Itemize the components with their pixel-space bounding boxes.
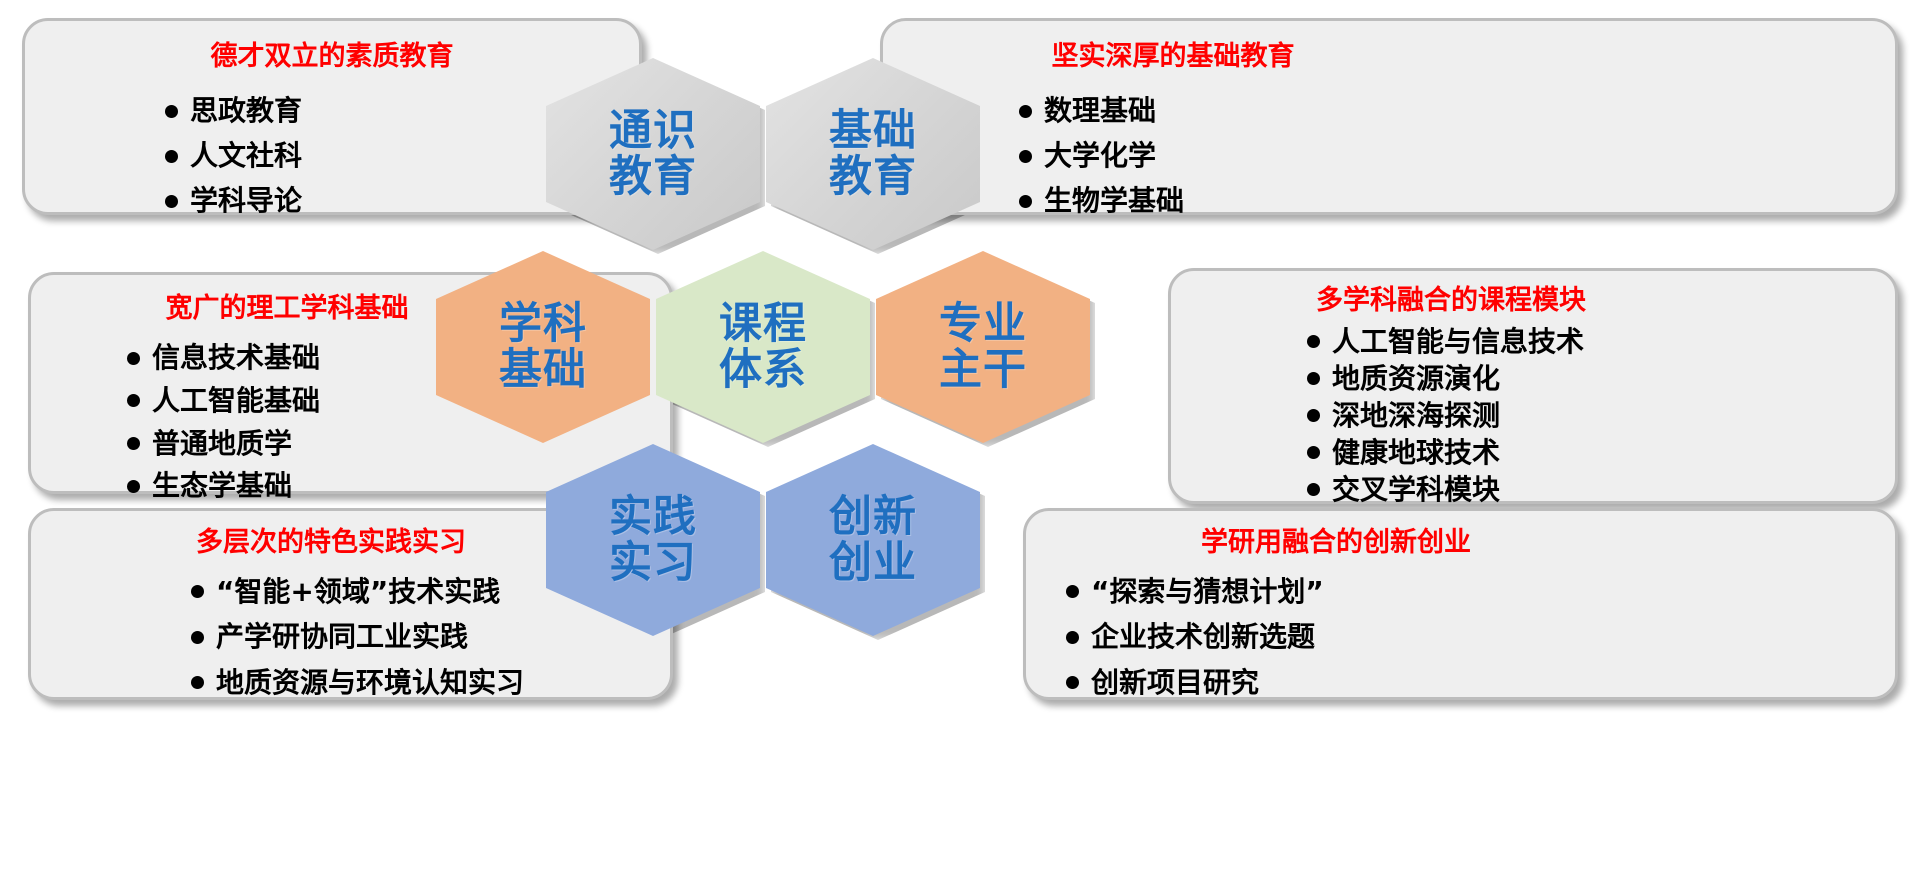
- panel-bottom-left-list: “智能+领域”技术实践 产学研协同工业实践 地质资源与环境认知实习: [191, 569, 524, 705]
- list-item: 普通地质学: [127, 422, 320, 465]
- hex-innovation-entrepreneurship-line1: 创新: [829, 494, 917, 540]
- bullet-icon: [1066, 676, 1079, 689]
- list-item: 生物学基础: [1019, 179, 1184, 223]
- panel-mid-right-list: 人工智能与信息技术 地质资源演化 深地深海探测 健康地球技术 交叉学科模块: [1307, 323, 1584, 508]
- bullet-icon: [191, 631, 204, 644]
- bullet-icon: [1307, 446, 1320, 459]
- list-item-label: 健康地球技术: [1332, 439, 1500, 467]
- hex-basic-education-line2: 教育: [829, 154, 917, 200]
- list-item-label: 人工智能与信息技术: [1332, 328, 1584, 356]
- list-item: 产学研协同工业实践: [191, 614, 524, 660]
- list-item-label: 普通地质学: [152, 430, 292, 458]
- list-item-label: 大学化学: [1044, 142, 1156, 170]
- bullet-icon: [127, 437, 140, 450]
- bullet-icon: [1066, 585, 1079, 598]
- list-item-label: 创新项目研究: [1091, 669, 1259, 697]
- list-item: 深地深海探测: [1307, 397, 1584, 434]
- bullet-icon: [127, 480, 140, 493]
- list-item-label: 产学研协同工业实践: [216, 623, 468, 651]
- list-item-label: 思政教育: [190, 97, 302, 125]
- bullet-icon: [127, 352, 140, 365]
- list-item-label: 地质资源与环境认知实习: [216, 669, 524, 697]
- list-item-label: 信息技术基础: [152, 344, 320, 372]
- list-item: 生态学基础: [127, 465, 320, 507]
- hex-innovation-entrepreneurship-line2: 创业: [829, 540, 917, 586]
- hex-professional-core-line1: 专业: [939, 301, 1027, 347]
- panel-mid-right: 多学科融合的课程模块 人工智能与信息技术 地质资源演化 深地深海探测 健康地球技…: [1168, 268, 1898, 504]
- list-item: 企业技术创新选题: [1066, 614, 1324, 660]
- bullet-icon: [1307, 335, 1320, 348]
- list-item: “智能+领域”技术实践: [191, 569, 524, 614]
- list-item-label: 数理基础: [1044, 97, 1156, 125]
- list-item: 思政教育: [165, 89, 302, 133]
- list-item-label: 人文社科: [190, 142, 302, 170]
- panel-top-left-list: 思政教育 人文社科 学科导论: [165, 89, 302, 223]
- panel-bottom-left-title: 多层次的特色实践实习: [31, 529, 631, 556]
- panel-mid-left-list: 信息技术基础 人工智能基础 普通地质学 生态学基础: [127, 337, 320, 507]
- list-item-label: 生物学基础: [1044, 187, 1184, 215]
- list-item-label: “智能+领域”技术实践: [216, 578, 500, 606]
- list-item: 地质资源演化: [1307, 360, 1584, 397]
- panel-top-right-list: 数理基础 大学化学 生物学基础: [1019, 89, 1184, 223]
- hex-practice-internship-line2: 实习: [609, 540, 697, 586]
- bullet-icon: [127, 394, 140, 407]
- diagram-canvas: 德才双立的素质教育 思政教育 人文社科 学科导论 坚实深厚的基础教育 数理基础 …: [0, 0, 1920, 873]
- panel-top-right-title: 坚实深厚的基础教育: [883, 43, 1463, 70]
- hex-practice-internship-line1: 实践: [609, 494, 697, 540]
- bullet-icon: [1307, 483, 1320, 496]
- bullet-icon: [1019, 105, 1032, 118]
- list-item: 信息技术基础: [127, 337, 320, 379]
- hex-discipline-foundation-line1: 学科: [499, 301, 587, 347]
- bullet-icon: [1307, 409, 1320, 422]
- bullet-icon: [1307, 372, 1320, 385]
- list-item: 人工智能基础: [127, 379, 320, 422]
- list-item: 人文社科: [165, 133, 302, 179]
- list-item: 人工智能与信息技术: [1307, 323, 1584, 360]
- hex-discipline-foundation-line2: 基础: [499, 347, 587, 393]
- list-item: 交叉学科模块: [1307, 471, 1584, 508]
- hex-general-education-line1: 通识: [609, 108, 697, 154]
- hex-curriculum-system-line1: 课程: [719, 301, 807, 347]
- panel-top-right: 坚实深厚的基础教育 数理基础 大学化学 生物学基础: [880, 18, 1898, 215]
- list-item: 健康地球技术: [1307, 434, 1584, 471]
- panel-mid-right-title: 多学科融合的课程模块: [1171, 287, 1731, 314]
- list-item: 数理基础: [1019, 89, 1184, 133]
- list-item: 学科导论: [165, 179, 302, 223]
- list-item-label: “探索与猜想计划”: [1091, 578, 1324, 606]
- hex-general-education-line2: 教育: [609, 154, 697, 200]
- list-item: “探索与猜想计划”: [1066, 569, 1324, 614]
- bullet-icon: [165, 105, 178, 118]
- list-item-label: 企业技术创新选题: [1091, 623, 1315, 651]
- list-item: 大学化学: [1019, 133, 1184, 179]
- bullet-icon: [191, 676, 204, 689]
- bullet-icon: [191, 585, 204, 598]
- list-item-label: 人工智能基础: [152, 387, 320, 415]
- bullet-icon: [1019, 150, 1032, 163]
- list-item-label: 交叉学科模块: [1332, 476, 1500, 504]
- panel-bottom-right: 学研用融合的创新创业 “探索与猜想计划” 企业技术创新选题 创新项目研究: [1023, 508, 1898, 700]
- list-item-label: 学科导论: [190, 187, 302, 215]
- hex-curriculum-system-line2: 体系: [719, 347, 807, 393]
- bullet-icon: [1066, 631, 1079, 644]
- bullet-icon: [1019, 195, 1032, 208]
- hex-professional-core-line2: 主干: [939, 347, 1027, 393]
- bullet-icon: [165, 195, 178, 208]
- list-item-label: 地质资源演化: [1332, 365, 1500, 393]
- list-item-label: 深地深海探测: [1332, 402, 1500, 430]
- list-item: 创新项目研究: [1066, 660, 1324, 705]
- panel-top-left-title: 德才双立的素质教育: [25, 43, 639, 70]
- list-item-label: 生态学基础: [152, 472, 292, 500]
- list-item: 地质资源与环境认知实习: [191, 660, 524, 705]
- panel-bottom-right-title: 学研用融合的创新创业: [1026, 529, 1646, 556]
- hex-basic-education-line1: 基础: [829, 108, 917, 154]
- panel-bottom-right-list: “探索与猜想计划” 企业技术创新选题 创新项目研究: [1066, 569, 1324, 705]
- bullet-icon: [165, 150, 178, 163]
